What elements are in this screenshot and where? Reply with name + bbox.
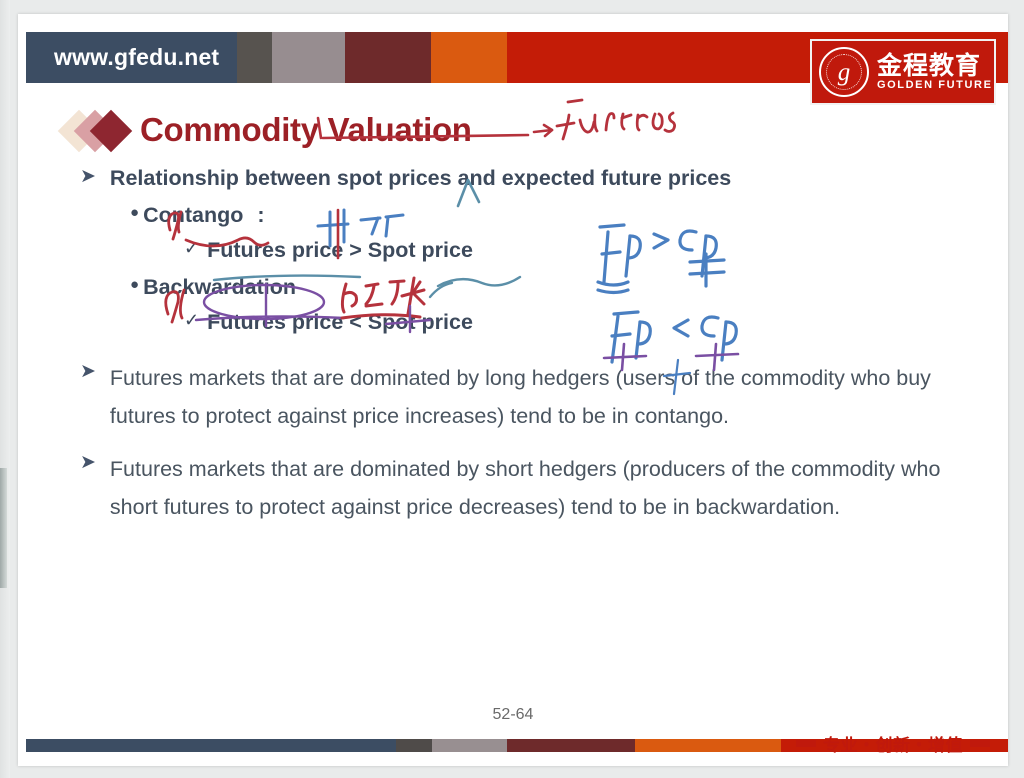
footer-block-mauve-gray xyxy=(432,739,507,752)
logo-emblem-icon: g xyxy=(819,47,869,97)
backwardation-relation-text: Futures price < Spot price xyxy=(207,308,473,337)
header-block-dark-gray xyxy=(237,32,272,83)
logo-text-group: 金程教育 GOLDEN FUTURE xyxy=(877,53,993,92)
gfedu-logo: g 金程教育 GOLDEN FUTURE xyxy=(810,39,996,105)
contango-relation-text: Futures price > Spot price xyxy=(207,236,473,265)
slide-viewer: www.gfedu.net g 金程教育 GOLDEN FUTURE Commo… xyxy=(0,0,1024,778)
contango-relation-row: ✓ Futures price > Spot price xyxy=(184,236,1008,265)
paragraph-contango: ➤ Futures markets that are dominated by … xyxy=(80,359,960,436)
term-contango-separator: : xyxy=(257,201,264,230)
arrow-bullet-icon: ➤ xyxy=(80,450,96,476)
header-block-dark-maroon xyxy=(345,32,431,83)
footer-block-dark-maroon xyxy=(507,739,635,752)
ink-futures-word xyxy=(557,100,675,139)
slogan-dash-left-icon xyxy=(796,740,816,747)
viewer-left-edge xyxy=(0,0,10,778)
term-backwardation: ● Backwardation xyxy=(130,273,1008,302)
paragraph-contango-text: Futures markets that are dominated by lo… xyxy=(110,359,960,436)
check-bullet-icon: ✓ xyxy=(184,236,199,261)
footer-block-orange xyxy=(635,739,781,752)
paragraph-backwardation-text: Futures markets that are dominated by sh… xyxy=(110,450,960,527)
check-bullet-icon: ✓ xyxy=(184,308,199,333)
arrow-bullet-icon: ➤ xyxy=(80,164,96,190)
footer-block-slate-blue xyxy=(26,739,396,752)
site-url-label: www.gfedu.net xyxy=(54,44,219,71)
footer-block-dark-gray xyxy=(396,739,432,752)
term-contango-label: Contango xyxy=(143,201,243,230)
paragraph-backwardation: ➤ Futures markets that are dominated by … xyxy=(80,450,960,527)
logo-chinese-name: 金程教育 xyxy=(877,53,993,79)
title-diamond-decoration xyxy=(54,108,136,152)
arrow-bullet-icon: ➤ xyxy=(80,359,96,385)
logo-english-name: GOLDEN FUTURE xyxy=(877,80,993,92)
slide-content: ➤ Relationship between spot prices and e… xyxy=(18,164,1008,526)
bullet-heading-text: Relationship between spot prices and exp… xyxy=(110,164,731,193)
emblem-letter: g xyxy=(838,60,851,85)
page-title: Commodity Valuation xyxy=(140,111,472,149)
dot-bullet-icon: ● xyxy=(130,201,139,225)
term-contango: ● Contango : xyxy=(130,201,1008,230)
viewer-left-scroll-mark xyxy=(0,468,7,588)
bullet-heading: ➤ Relationship between spot prices and e… xyxy=(80,164,1008,193)
dot-bullet-icon: ● xyxy=(130,273,139,297)
slide-title-row: Commodity Valuation xyxy=(54,102,472,158)
page-number: 52-64 xyxy=(18,706,1008,724)
backwardation-relation-row: ✓ Futures price < Spot price xyxy=(184,308,1008,337)
presentation-slide: www.gfedu.net g 金程教育 GOLDEN FUTURE Commo… xyxy=(18,14,1008,766)
header-block-orange xyxy=(431,32,507,83)
footer-slogan-text: 专业・创新・增值 xyxy=(823,731,963,756)
header-block-mauve-gray xyxy=(272,32,345,83)
slogan-dash-right-icon xyxy=(970,740,990,747)
term-backwardation-label: Backwardation xyxy=(143,273,296,302)
footer-slogan-group: 专业・创新・增值 xyxy=(796,731,990,756)
